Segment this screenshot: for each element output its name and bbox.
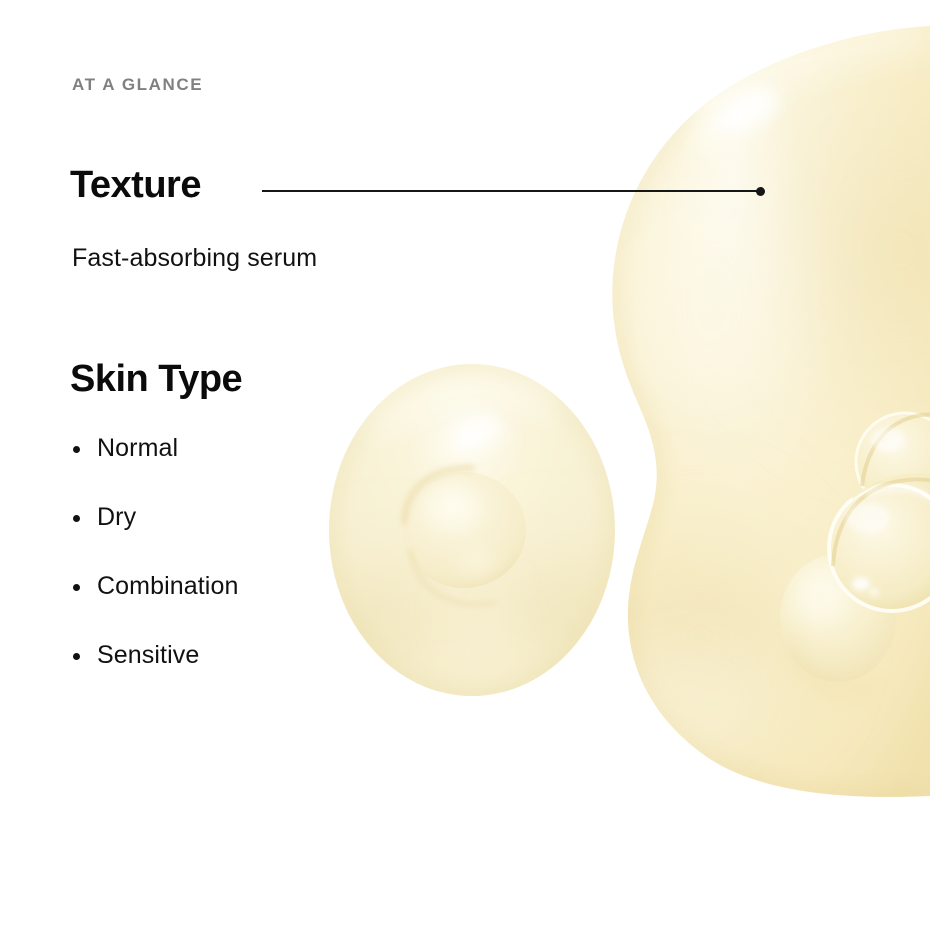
- page-eyebrow: AT A GLANCE: [72, 76, 203, 93]
- texture-section-title: Texture: [70, 166, 201, 204]
- skin-type-label: Dry: [97, 503, 136, 531]
- bullet-icon: [73, 653, 80, 660]
- texture-callout-line: [262, 187, 765, 196]
- list-item: Sensitive: [72, 643, 238, 668]
- infographic-content: AT A GLANCE Texture Fast-absorbing serum…: [0, 0, 930, 930]
- list-item: Combination: [72, 574, 238, 599]
- texture-value: Fast-absorbing serum: [72, 246, 317, 271]
- bullet-icon: [73, 515, 80, 522]
- list-item: Dry: [72, 505, 238, 530]
- bullet-icon: [73, 584, 80, 591]
- callout-rule: [262, 190, 759, 192]
- callout-endpoint-dot: [756, 187, 765, 196]
- bullet-icon: [73, 446, 80, 453]
- skin-type-list: Normal Dry Combination Sensitive: [72, 436, 238, 712]
- skin-type-label: Normal: [97, 434, 178, 462]
- list-item: Normal: [72, 436, 238, 461]
- skin-type-section-title: Skin Type: [70, 360, 242, 398]
- skin-type-label: Sensitive: [97, 641, 199, 669]
- skin-type-label: Combination: [97, 572, 238, 600]
- infographic-canvas: AT A GLANCE Texture Fast-absorbing serum…: [0, 0, 930, 930]
